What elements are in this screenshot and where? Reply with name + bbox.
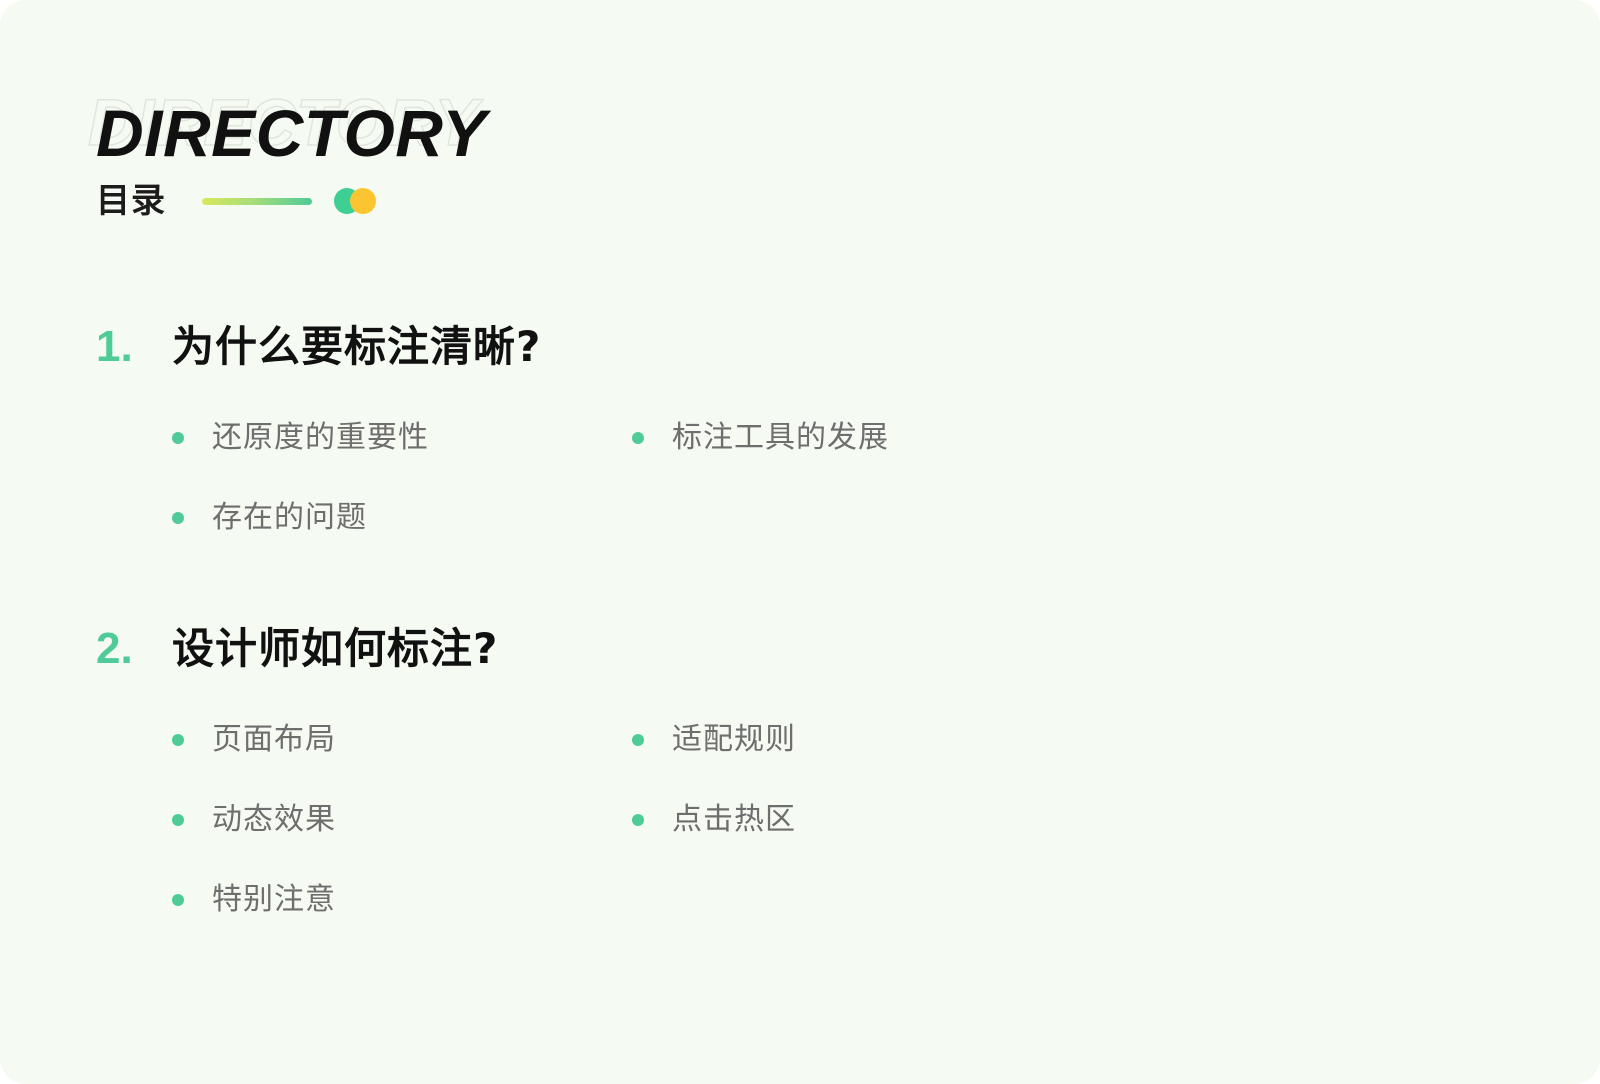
section-2: 2. 设计师如何标注? 页面布局 适配规则 动态效果 点击热区 [96,620,1516,940]
yellow-circle-icon [350,188,376,214]
bullet-dot-icon [172,734,184,746]
section-1-title: 为什么要标注清晰? [172,318,541,376]
section-1-bullets: 还原度的重要性 标注工具的发展 存在的问题 [96,398,1516,558]
list-item-label: 页面布局 [212,720,336,760]
list-item-label: 标注工具的发展 [672,418,889,458]
accent-dots-group [334,188,376,214]
subtitle-row: 目录 [96,180,376,222]
list-item-label: 还原度的重要性 [212,418,429,458]
list-item[interactable]: 动态效果 [172,780,632,860]
list-item-label: 特别注意 [212,880,336,920]
list-item-label: 动态效果 [212,800,336,840]
title-stack: DIRECTORY DIRECTORY [96,92,796,174]
list-item[interactable]: 还原度的重要性 [172,398,632,478]
bullet-dot-icon [172,432,184,444]
list-item[interactable]: 页面布局 [172,700,632,780]
section-2-title: 设计师如何标注? [172,620,498,678]
sections-list: 1. 为什么要标注清晰? 还原度的重要性 标注工具的发展 存在的问题 [96,318,1516,940]
subtitle-chinese: 目录 [96,180,166,222]
section-1-number: 1. [96,318,172,376]
section-2-number: 2. [96,620,172,678]
list-item[interactable]: 点击热区 [632,780,1092,860]
section-1-heading: 1. 为什么要标注清晰? [96,318,1516,376]
slide-header: DIRECTORY DIRECTORY 目录 [96,92,796,174]
bullet-dot-icon [172,814,184,826]
bullet-dot-icon [632,734,644,746]
list-item-label: 点击热区 [672,800,796,840]
list-item[interactable]: 适配规则 [632,700,1092,780]
bullet-dot-icon [172,512,184,524]
section-1: 1. 为什么要标注清晰? 还原度的重要性 标注工具的发展 存在的问题 [96,318,1516,558]
list-item[interactable]: 特别注意 [172,860,632,940]
bullet-dot-icon [172,894,184,906]
page-title: DIRECTORY [96,92,487,174]
section-2-bullets: 页面布局 适配规则 动态效果 点击热区 特别注意 [96,700,1516,940]
list-item[interactable]: 存在的问题 [172,478,632,558]
gradient-divider-line [202,198,312,205]
list-item-label: 适配规则 [672,720,796,760]
list-item-label: 存在的问题 [212,498,367,538]
bullet-dot-icon [632,432,644,444]
bullet-dot-icon [632,814,644,826]
section-2-heading: 2. 设计师如何标注? [96,620,1516,678]
directory-slide: DIRECTORY DIRECTORY 目录 1. 为什么要标注清晰? 还原度的… [0,0,1600,1084]
list-item[interactable]: 标注工具的发展 [632,398,1092,478]
